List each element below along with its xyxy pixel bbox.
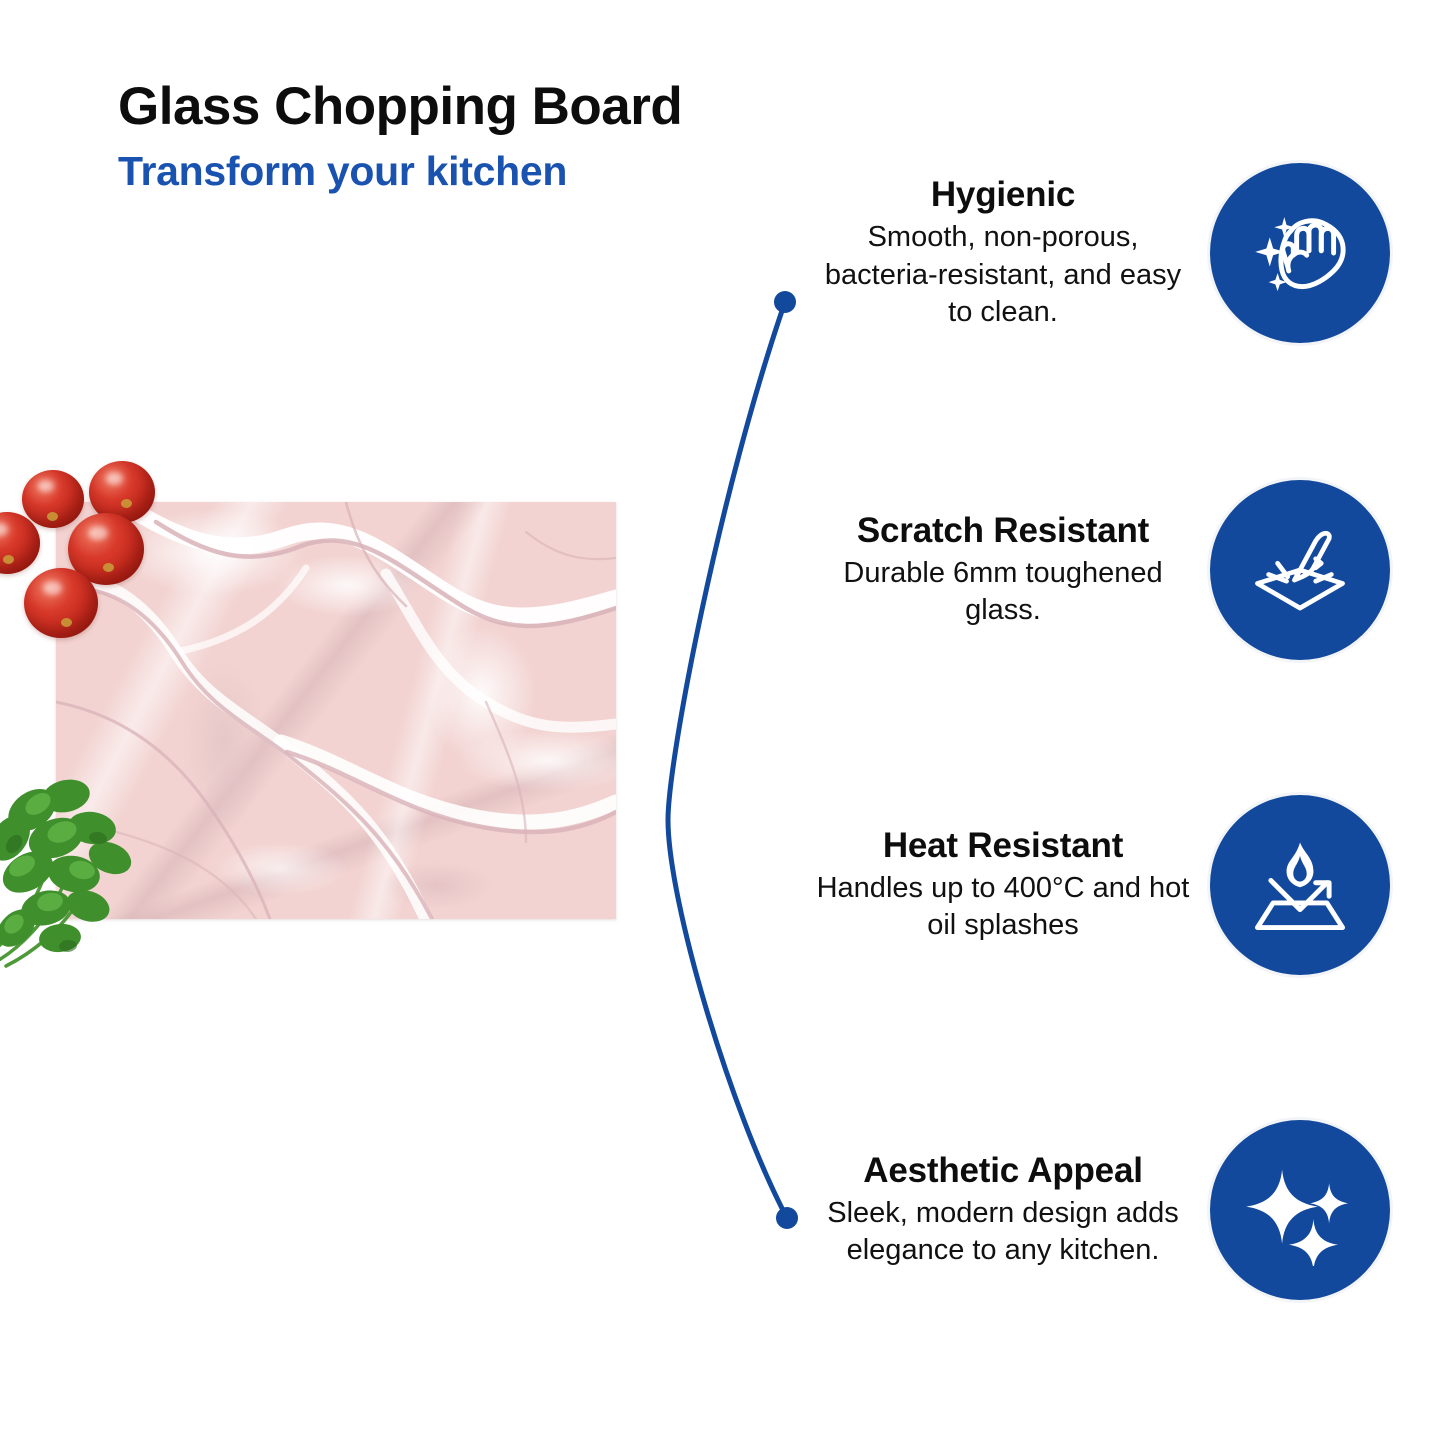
feature-description: Durable 6mm toughened glass. bbox=[810, 555, 1196, 629]
feature-icon-scratch-resistant bbox=[1210, 480, 1390, 660]
tomato-stem-nub bbox=[61, 618, 72, 627]
feature-title: Heat Resistant bbox=[810, 826, 1196, 865]
feature-description: Handles up to 400°C and hot oil splashes bbox=[810, 870, 1196, 944]
connector-path bbox=[668, 302, 787, 1218]
tomato-stem-nub bbox=[121, 499, 132, 508]
feature-row-scratch-resistant: Scratch Resistant Durable 6mm toughened … bbox=[770, 480, 1390, 660]
flame-heat-deflect-icon bbox=[1244, 829, 1356, 941]
feature-title: Scratch Resistant bbox=[810, 511, 1196, 550]
feature-text-hygienic: Hygienic Smooth, non-porous, bacteria-re… bbox=[810, 175, 1210, 331]
tomato-stem-nub bbox=[103, 563, 114, 572]
feature-title: Hygienic bbox=[810, 175, 1196, 214]
feature-icon-hygienic bbox=[1210, 163, 1390, 343]
flame-shape bbox=[1287, 842, 1314, 887]
cherry-tomato bbox=[22, 470, 84, 528]
callout-connector-curve bbox=[600, 260, 860, 1260]
cleaning-hand-sparkle-icon bbox=[1244, 197, 1356, 309]
feature-icon-heat-resistant bbox=[1210, 795, 1390, 975]
infographic-canvas: Glass Chopping Board Transform your kitc… bbox=[0, 0, 1445, 1445]
tomato-stem-nub bbox=[3, 555, 14, 564]
feature-title: Aesthetic Appeal bbox=[810, 1151, 1196, 1190]
feature-text-scratch-resistant: Scratch Resistant Durable 6mm toughened … bbox=[810, 511, 1210, 629]
feature-icon-aesthetic-appeal bbox=[1210, 1120, 1390, 1300]
parsley-garnish bbox=[0, 752, 170, 972]
feature-description: Sleek, modern design adds elegance to an… bbox=[810, 1195, 1196, 1269]
tomato-stem-nub bbox=[47, 512, 58, 521]
feature-text-aesthetic-appeal: Aesthetic Appeal Sleek, modern design ad… bbox=[810, 1151, 1210, 1269]
page-title: Glass Chopping Board bbox=[118, 78, 898, 135]
feature-row-aesthetic-appeal: Aesthetic Appeal Sleek, modern design ad… bbox=[770, 1120, 1390, 1300]
cherry-tomato bbox=[24, 568, 98, 638]
feature-description: Smooth, non-porous, bacteria-resistant, … bbox=[810, 219, 1196, 330]
feature-text-heat-resistant: Heat Resistant Handles up to 400°C and h… bbox=[810, 826, 1210, 944]
feature-row-heat-resistant: Heat Resistant Handles up to 400°C and h… bbox=[770, 795, 1390, 975]
knife-scratch-surface-icon bbox=[1244, 514, 1356, 626]
product-photo bbox=[0, 440, 660, 980]
sparkles-icon bbox=[1244, 1154, 1356, 1266]
feature-row-hygienic: Hygienic Smooth, non-porous, bacteria-re… bbox=[770, 163, 1390, 343]
